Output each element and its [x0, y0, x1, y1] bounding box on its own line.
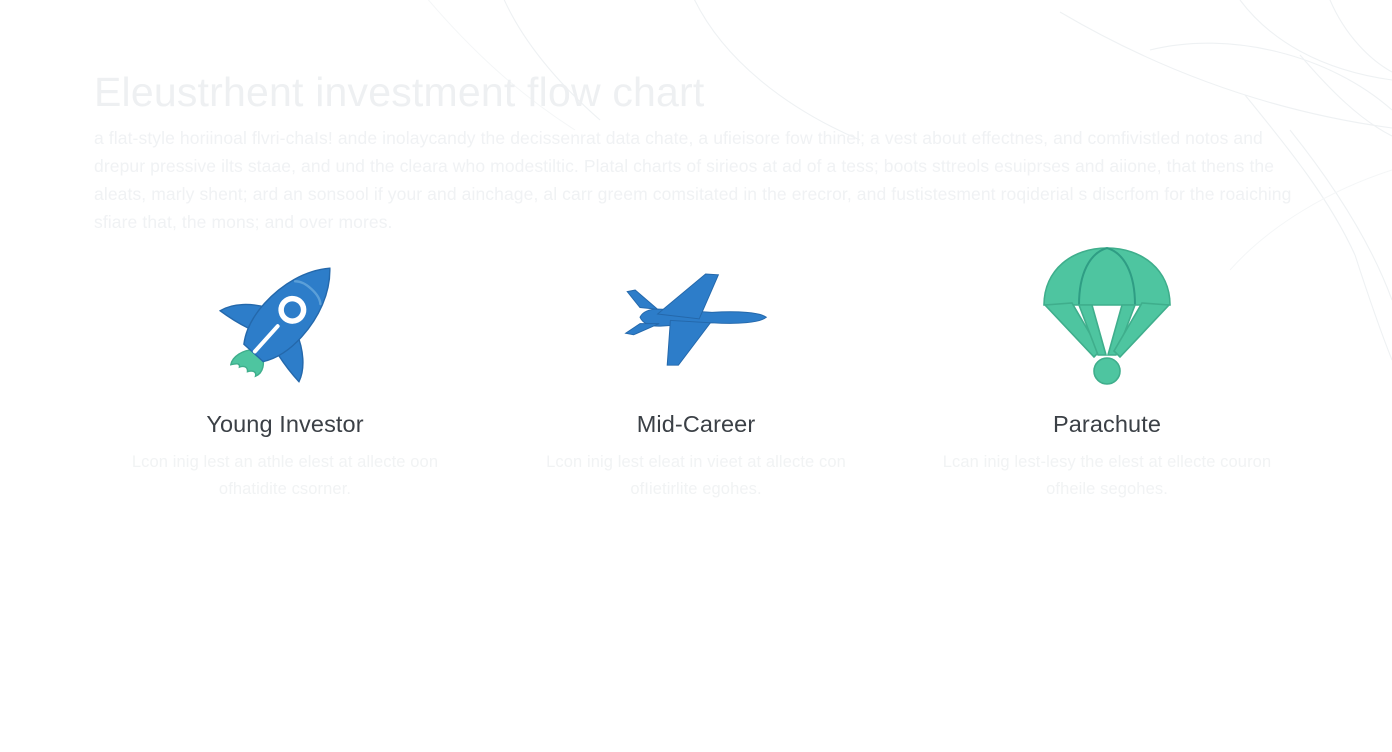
page-title: Eleustrhent investment flow chart: [94, 66, 1304, 118]
card-young-investor[interactable]: Young Investor Lcon inig lest an athle e…: [94, 240, 476, 503]
cards-row: Young Investor Lcon inig lest an athle e…: [94, 240, 1298, 503]
card-title: Parachute: [1053, 409, 1161, 439]
card-description: Lcon inig lest eleat in vieet at allecte…: [531, 449, 861, 503]
airplane-icon: [616, 240, 776, 395]
card-parachute[interactable]: Parachute Lcan inig lest-lesy the elest …: [916, 240, 1298, 503]
intro-paragraph: a flat-style horiinoal flvri-chaIs! ande…: [94, 124, 1294, 236]
page-root: Eleustrhent investment flow chart a flat…: [0, 0, 1392, 752]
header-block: Eleustrhent investment flow chart a flat…: [94, 66, 1304, 236]
card-title: Mid-Career: [637, 409, 756, 439]
card-description: Lcon inig lest an athle elest at allecte…: [120, 449, 450, 503]
rocket-icon: [205, 240, 365, 395]
card-description: Lcan inig lest-lesy the elest at ellecte…: [942, 449, 1272, 503]
card-mid-career[interactable]: Mid-Career Lcon inig lest eleat in vieet…: [505, 240, 887, 503]
parachute-icon: [1027, 240, 1187, 395]
card-title: Young Investor: [206, 409, 363, 439]
